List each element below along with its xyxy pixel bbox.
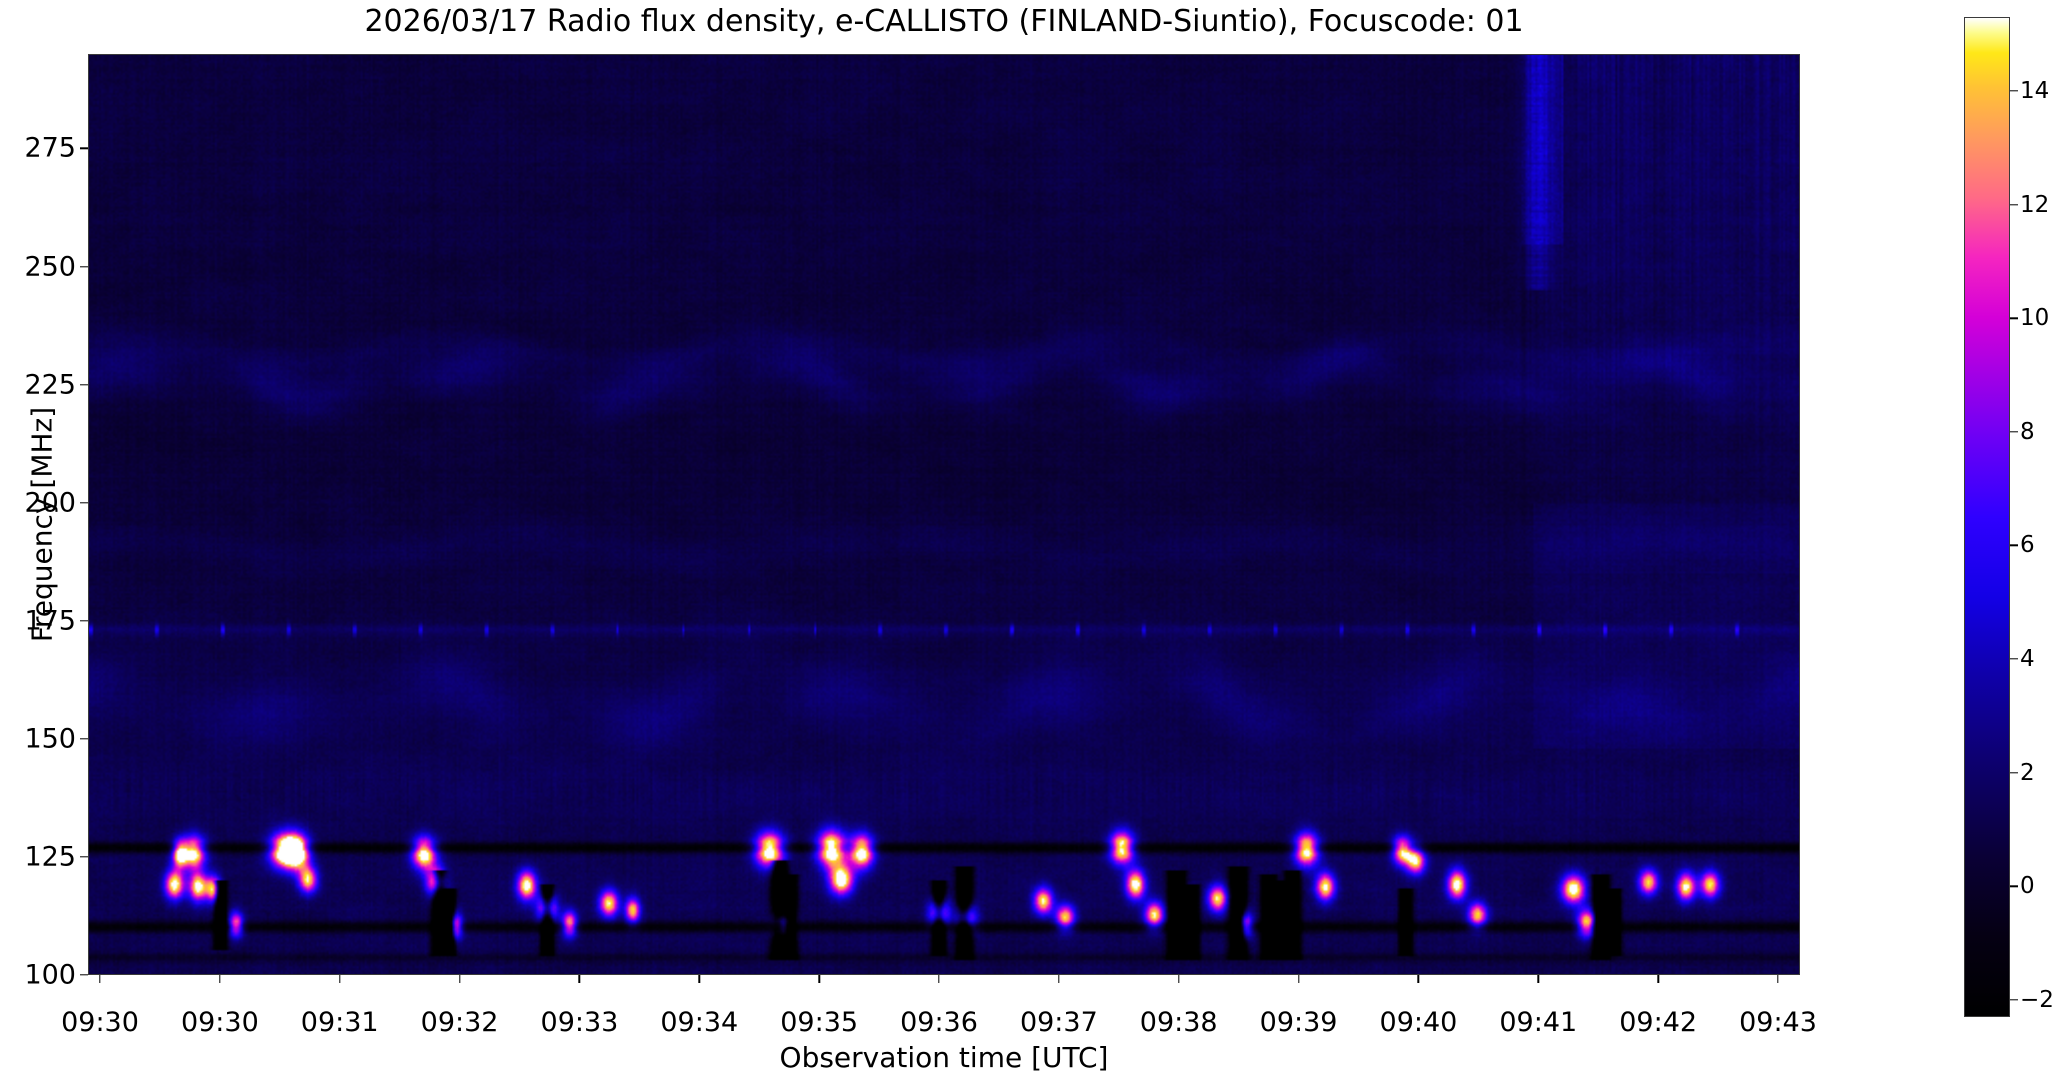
x-tick-mark	[1777, 975, 1778, 983]
x-tick-mark	[1298, 975, 1299, 983]
colorbar-gradient	[1965, 18, 2009, 1016]
x-tick-label: 09:35	[780, 1007, 858, 1038]
colorbar-tick-label: 8	[2020, 419, 2035, 445]
x-tick-mark	[579, 975, 580, 983]
y-tick-label: 250	[24, 251, 76, 282]
spectrogram-image	[89, 55, 1799, 974]
colorbar-tick-label: 2	[2020, 760, 2035, 786]
y-tick-mark	[80, 620, 88, 621]
y-tick-label: 225	[24, 369, 76, 400]
x-tick-mark	[1657, 975, 1658, 983]
colorbar-tick-mark	[2010, 545, 2018, 546]
x-tick-label: 09:38	[1140, 1007, 1218, 1038]
x-tick-mark	[1418, 975, 1419, 983]
y-tick-label: 200	[24, 487, 76, 518]
y-tick-label: 275	[24, 133, 76, 164]
x-tick-label: 09:43	[1739, 1007, 1817, 1038]
x-tick-mark	[1178, 975, 1179, 983]
x-tick-label: 09:39	[1260, 1007, 1338, 1038]
x-tick-mark	[699, 975, 700, 983]
y-tick-mark	[80, 266, 88, 267]
x-tick-mark	[459, 975, 460, 983]
spectrogram-plot-area[interactable]	[88, 54, 1800, 975]
x-tick-mark	[1058, 975, 1059, 983]
y-tick-mark	[80, 148, 88, 149]
colorbar-tick-label: 10	[2020, 305, 2049, 331]
x-tick-label: 09:32	[421, 1007, 499, 1038]
colorbar-tick-label: 6	[2020, 532, 2035, 558]
colorbar-tick-mark	[2010, 204, 2018, 205]
colorbar-tick-label: 14	[2020, 78, 2049, 104]
colorbar-tick-label: −2	[2020, 987, 2054, 1013]
y-axis-label: Frequency [MHz]	[26, 85, 59, 965]
y-tick-label: 175	[24, 605, 76, 636]
y-tick-label: 150	[24, 723, 76, 754]
x-tick-label: 09:36	[900, 1007, 978, 1038]
page-title: 2026/03/17 Radio flux density, e-CALLIST…	[88, 4, 1800, 39]
x-tick-label: 09:40	[1380, 1007, 1458, 1038]
x-axis: Observation time [UTC] 09:3009:3009:3109…	[88, 975, 1800, 1067]
x-tick-label: 09:33	[541, 1007, 619, 1038]
x-tick-mark	[938, 975, 939, 983]
y-tick-mark	[80, 856, 88, 857]
x-tick-mark	[339, 975, 340, 983]
x-tick-label: 09:31	[301, 1007, 379, 1038]
x-tick-label: 09:30	[61, 1007, 139, 1038]
x-tick-mark	[1538, 975, 1539, 983]
colorbar-tick-mark	[2010, 658, 2018, 659]
y-tick-label: 100	[24, 960, 76, 991]
x-tick-mark	[219, 975, 220, 983]
colorbar-gradient-bar	[1964, 17, 2010, 1017]
x-tick-mark	[818, 975, 819, 983]
colorbar-tick-label: 0	[2020, 873, 2035, 899]
colorbar-tick-mark	[2010, 886, 2018, 887]
colorbar-tick-label: 4	[2020, 646, 2035, 672]
spectrogram-figure: 2026/03/17 Radio flux density, e-CALLIST…	[0, 0, 2066, 1067]
y-tick-label: 125	[24, 841, 76, 872]
x-tick-label: 09:41	[1499, 1007, 1577, 1038]
x-tick-label: 09:37	[1020, 1007, 1098, 1038]
y-tick-mark	[80, 738, 88, 739]
x-tick-label: 09:34	[660, 1007, 738, 1038]
y-tick-mark	[80, 502, 88, 503]
x-tick-label: 09:42	[1619, 1007, 1697, 1038]
colorbar-tick-mark	[2010, 431, 2018, 432]
colorbar-tick-mark	[2010, 999, 2018, 1000]
y-tick-mark	[80, 974, 88, 975]
x-tick-mark	[99, 975, 100, 983]
colorbar-tick-label: 12	[2020, 192, 2049, 218]
y-axis: Frequency [MHz] 275250225200175150125100	[0, 54, 88, 975]
colorbar[interactable]: −202468101214	[1964, 17, 2010, 1017]
colorbar-tick-mark	[2010, 772, 2018, 773]
x-tick-label: 09:30	[181, 1007, 259, 1038]
colorbar-tick-mark	[2010, 317, 2018, 318]
y-tick-mark	[80, 384, 88, 385]
x-axis-label: Observation time [UTC]	[88, 1041, 1800, 1074]
colorbar-tick-mark	[2010, 90, 2018, 91]
